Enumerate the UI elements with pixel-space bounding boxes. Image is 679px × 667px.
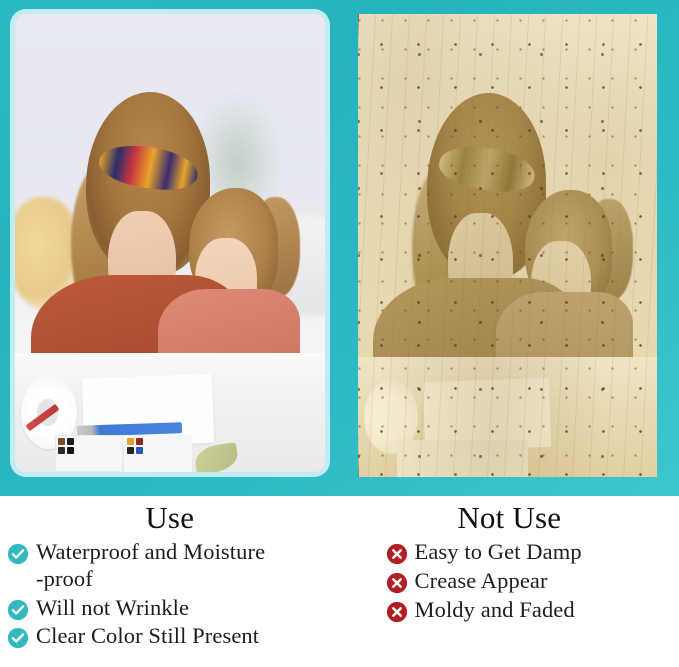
list-item-label: Crease Appear	[415, 568, 548, 595]
list-item-label: Waterproof and Moisture -proof	[36, 539, 265, 593]
list-item: Clear Color Still Present	[0, 623, 340, 650]
photo-paint-box-right	[124, 435, 192, 472]
benefit-list: Waterproof and Moisture -proof Will not …	[0, 539, 340, 650]
column-use: Use Waterproof and Moisture -proof	[0, 496, 340, 667]
column-not-use: Not Use Easy to Get Damp	[340, 496, 679, 667]
list-item: Waterproof and Moisture -proof	[0, 539, 340, 593]
cross-circle-icon	[386, 601, 408, 623]
check-circle-icon	[7, 627, 29, 649]
comparison-panel: Use Waterproof and Moisture -proof	[0, 496, 679, 667]
photo-faded-paint-box	[397, 440, 529, 477]
list-item: Will not Wrinkle	[0, 595, 340, 622]
drawback-list: Easy to Get Damp Crease Appear	[340, 539, 679, 623]
list-item-label: Clear Color Still Present	[36, 623, 259, 650]
photo-good-color	[15, 14, 325, 472]
list-item-label: Will not Wrinkle	[36, 595, 189, 622]
photo-frame-good	[10, 9, 330, 477]
list-item: Crease Appear	[340, 568, 679, 595]
list-item-label: Moldy and Faded	[415, 597, 575, 624]
photo-bad-sepia	[358, 14, 657, 477]
photo-frame-bad	[358, 14, 657, 477]
list-item-label: Easy to Get Damp	[415, 539, 582, 566]
list-item: Easy to Get Damp	[340, 539, 679, 566]
photo-paint-box-left	[55, 435, 123, 472]
cross-circle-icon	[386, 572, 408, 594]
check-circle-icon	[7, 599, 29, 621]
photo-band	[0, 0, 679, 496]
cross-circle-icon	[386, 543, 408, 565]
list-item: Moldy and Faded	[340, 597, 679, 624]
heading-use: Use	[0, 496, 340, 533]
comparison-infographic: Use Waterproof and Moisture -proof	[0, 0, 679, 667]
heading-not-use: Not Use	[340, 496, 679, 533]
check-circle-icon	[7, 543, 29, 565]
